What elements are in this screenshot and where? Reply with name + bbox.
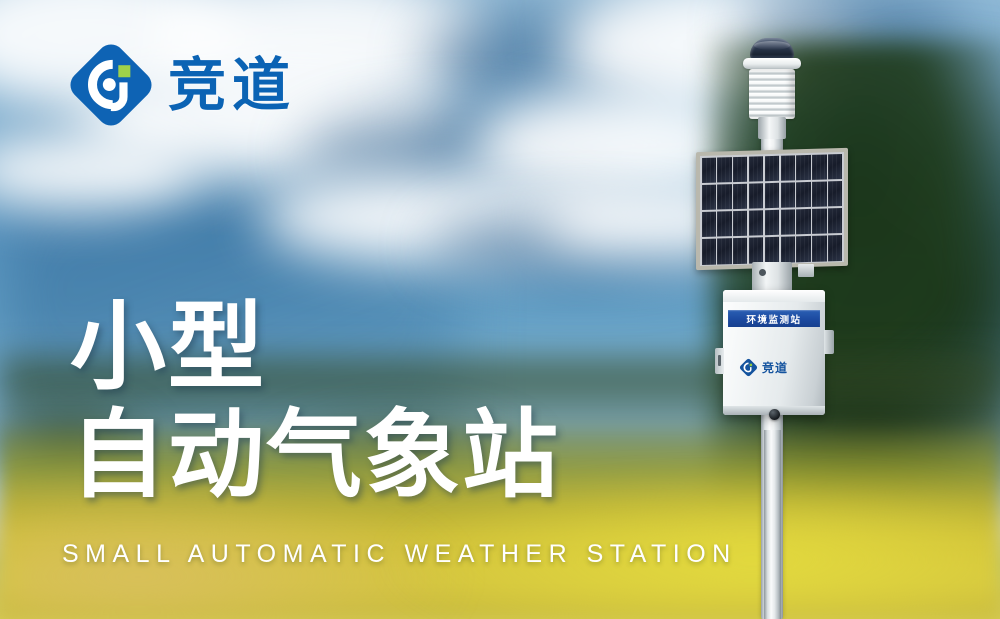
enclosure-side-mount bbox=[715, 348, 724, 374]
solar-cell bbox=[702, 211, 716, 237]
solar-cell bbox=[765, 210, 779, 236]
solar-cell bbox=[812, 208, 826, 234]
enclosure-brand-label: 竞道 bbox=[762, 359, 788, 376]
solar-cell bbox=[765, 237, 779, 263]
solar-cell bbox=[702, 184, 716, 210]
solar-cell bbox=[828, 154, 842, 180]
solar-cell bbox=[765, 182, 779, 208]
solar-cell bbox=[717, 211, 731, 237]
sensor-neck bbox=[758, 117, 786, 139]
jingdao-diamond-logo-icon bbox=[68, 42, 154, 128]
solar-cell bbox=[781, 209, 795, 235]
enclosure-top-edge bbox=[723, 290, 825, 302]
solar-cell bbox=[828, 181, 842, 207]
solar-cell bbox=[781, 155, 795, 181]
solar-cell bbox=[717, 157, 731, 183]
solar-cell bbox=[749, 183, 763, 209]
enclosure-side-mount bbox=[824, 330, 834, 354]
solar-cell bbox=[781, 236, 795, 262]
headline-block: 小型 自动气象站 bbox=[70, 298, 560, 506]
brand-logo[interactable]: 竞道 bbox=[68, 42, 296, 128]
solar-cell bbox=[733, 210, 747, 236]
solar-cell bbox=[781, 182, 795, 208]
sensor-cap bbox=[743, 58, 801, 69]
solar-cell bbox=[702, 157, 716, 183]
radiation-shield bbox=[749, 69, 795, 119]
solar-cell bbox=[733, 183, 747, 209]
solar-cell bbox=[749, 237, 763, 263]
solar-cell bbox=[733, 238, 747, 264]
solar-cell bbox=[796, 154, 810, 180]
bottom-sensor-icon bbox=[769, 409, 780, 420]
solar-cell bbox=[812, 154, 826, 180]
enclosure-banner: 环境监测站 bbox=[728, 310, 820, 327]
solar-cell bbox=[749, 210, 763, 236]
solar-cell bbox=[733, 156, 747, 182]
solar-cell bbox=[812, 181, 826, 207]
headline-subtitle: SMALL AUTOMATIC WEATHER STATION bbox=[62, 540, 737, 569]
enclosure-box: 环境监测站 竞道 bbox=[723, 290, 825, 415]
solar-cell bbox=[796, 236, 810, 262]
headline-line-1: 小型 bbox=[70, 298, 560, 398]
solar-cell bbox=[812, 235, 826, 261]
solar-cell bbox=[828, 235, 842, 261]
enclosure-banner-label: 环境监测站 bbox=[746, 312, 801, 326]
solar-cell bbox=[828, 208, 842, 234]
panel-bracket-tab bbox=[798, 264, 814, 277]
ultrasonic-weather-sensor-icon bbox=[740, 38, 804, 134]
solar-panel-icon bbox=[696, 148, 848, 270]
solar-cell bbox=[796, 182, 810, 208]
solar-cell bbox=[717, 184, 731, 210]
promo-banner: 环境监测站 竞道 竞道 小型 bbox=[0, 0, 1000, 619]
solar-panel-grid bbox=[700, 152, 844, 266]
solar-cell bbox=[702, 238, 716, 264]
solar-cell bbox=[765, 155, 779, 181]
solar-cell bbox=[717, 238, 731, 264]
solar-cell bbox=[796, 209, 810, 235]
mounting-pole-lower bbox=[764, 430, 781, 619]
jingdao-diamond-logo-icon bbox=[739, 358, 758, 377]
headline-line-2: 自动气象站 bbox=[70, 406, 560, 506]
solar-cell bbox=[749, 156, 763, 182]
enclosure-brand-logo: 竞道 bbox=[739, 358, 788, 377]
sensor-dome bbox=[750, 38, 794, 60]
brand-name: 竞道 bbox=[168, 56, 296, 114]
